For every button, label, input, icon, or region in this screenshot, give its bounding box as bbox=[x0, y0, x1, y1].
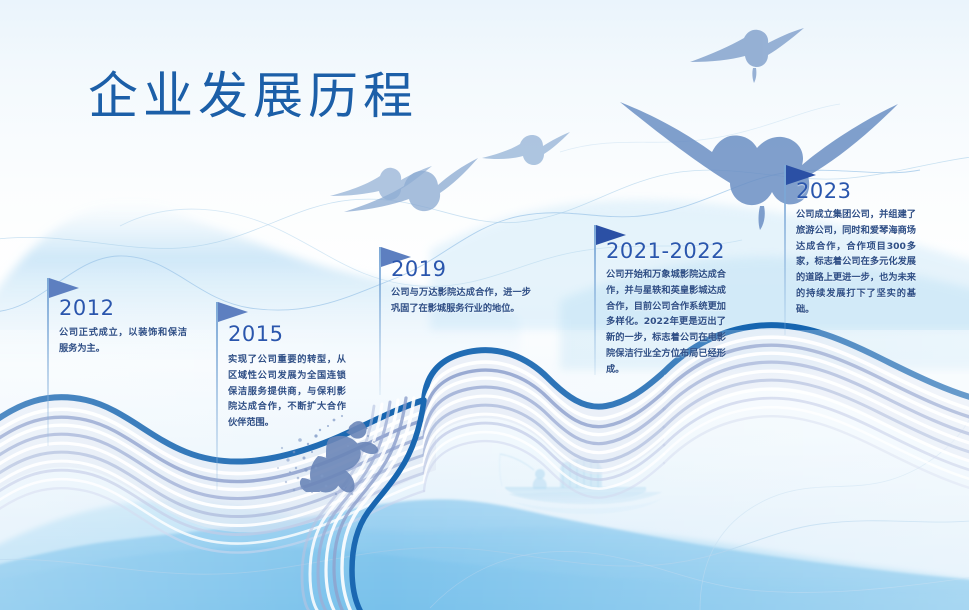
seagull-icon bbox=[690, 28, 804, 83]
flag-icon bbox=[218, 302, 248, 322]
poster-canvas: 企业发展历程 2012 公司正式成立，以装饰和保洁服务为主。 2015 实现了公… bbox=[0, 0, 969, 610]
flag-pole bbox=[216, 302, 218, 490]
milestone-description: 实现了公司重要的转型，从区域性公司发展为全国连锁保洁服务提供商，与保利影院达成合… bbox=[228, 352, 346, 431]
page-title: 企业发展历程 bbox=[88, 56, 418, 128]
flag-pole bbox=[594, 225, 596, 375]
milestone-description: 公司正式成立，以装饰和保洁服务为主。 bbox=[59, 325, 187, 357]
milestone-year: 2015 bbox=[228, 322, 283, 346]
flag-icon bbox=[49, 278, 79, 298]
ribbon-left-band bbox=[0, 397, 436, 552]
milestone-year: 2021-2022 bbox=[606, 239, 725, 263]
milestone-description: 公司开始和万象城影院达成合作，并与星轶和英皇影城达成合作，目前公司合作系统更加多… bbox=[606, 267, 726, 378]
flag-pole bbox=[784, 165, 786, 335]
milestone-year: 2012 bbox=[59, 296, 114, 320]
milestone-description: 公司与万达影院达成合作，进一步巩固了在影城服务行业的地位。 bbox=[391, 285, 531, 317]
flag-pole bbox=[47, 278, 49, 446]
seagull-icon bbox=[344, 158, 478, 212]
flag-pole bbox=[379, 247, 381, 395]
milestone-year: 2019 bbox=[391, 257, 446, 281]
seagull-icon bbox=[482, 132, 570, 165]
seagull-icon bbox=[330, 166, 432, 200]
milestone-description: 公司成立集团公司，并组建了旅游公司，同时和爱琴海商场达成合作，合作项目300多家… bbox=[796, 207, 916, 318]
milestone-year: 2023 bbox=[796, 179, 851, 203]
